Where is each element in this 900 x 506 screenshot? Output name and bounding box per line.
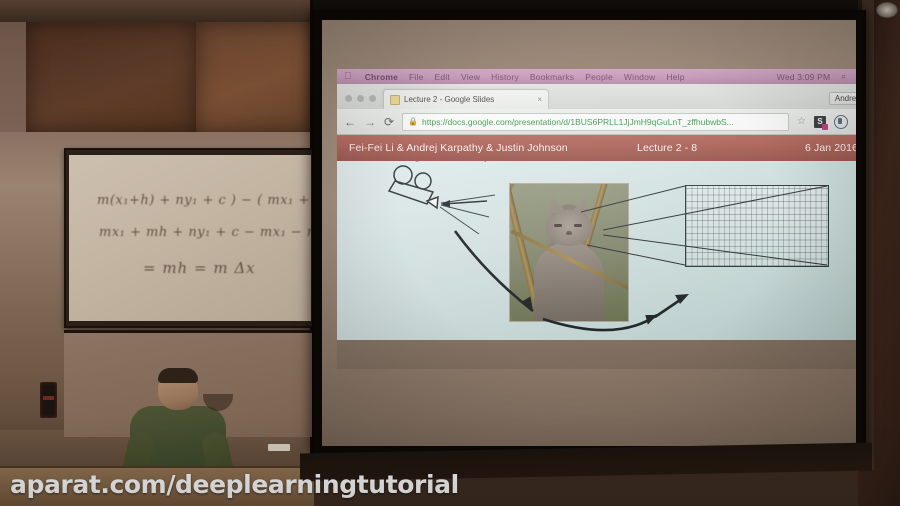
ceiling-light bbox=[876, 2, 898, 18]
chrome-toolbar: ← → ⟳ 🔒 https://docs.google.com/presenta… bbox=[337, 109, 856, 135]
spotlight-search-icon[interactable]: ⌕ bbox=[841, 71, 846, 82]
slide-lecture-number: Lecture 2 - 8 bbox=[637, 142, 697, 154]
menu-edit[interactable]: Edit bbox=[435, 72, 450, 82]
menu-history[interactable]: History bbox=[491, 72, 519, 82]
whiteboard: m(x₁+h) + ny₁ + c ) − ( mx₁ + ny₁ mx₁ + … bbox=[64, 148, 316, 328]
wall-panel-left bbox=[26, 22, 198, 134]
cat-eye-right bbox=[574, 224, 582, 227]
chrome-browser-window:  Chrome File Edit View History Bookmark… bbox=[337, 69, 856, 369]
slide-diagram bbox=[337, 135, 856, 340]
menu-view[interactable]: View bbox=[461, 72, 480, 82]
screen-pull-handle bbox=[268, 444, 290, 451]
profile-chip[interactable]: Andrej bbox=[829, 92, 856, 105]
ray-arrowhead bbox=[441, 200, 450, 208]
chrome-tab-strip: Lecture 2 - Google Slides × Andrej bbox=[337, 84, 856, 109]
lecturer-hair bbox=[158, 368, 198, 383]
slides-favicon-icon bbox=[390, 95, 400, 105]
back-button[interactable]: ← bbox=[344, 116, 356, 128]
whiteboard-equation-3: = mh = m Δx bbox=[143, 259, 256, 277]
camera-icon bbox=[389, 166, 438, 208]
wall-panel-right bbox=[196, 22, 314, 134]
maximize-window-button[interactable] bbox=[369, 95, 376, 102]
bookmark-star-icon[interactable]: ☆ bbox=[797, 116, 806, 127]
arrow-tail-right bbox=[655, 298, 683, 317]
camera-rays bbox=[440, 195, 495, 234]
macos-menu-bar:  Chrome File Edit View History Bookmark… bbox=[337, 69, 856, 84]
window-controls[interactable] bbox=[337, 95, 383, 109]
menu-bookmarks[interactable]: Bookmarks bbox=[530, 72, 574, 82]
slide-authors: Fei-Fei Li & Andrej Karpathy & Justin Jo… bbox=[349, 142, 568, 154]
close-window-button[interactable] bbox=[345, 95, 352, 102]
projection-screen:  Chrome File Edit View History Bookmark… bbox=[312, 10, 866, 456]
whiteboard-equation-1: m(x₁+h) + ny₁ + c ) − ( mx₁ + ny₁ bbox=[97, 193, 311, 208]
video-frame: m(x₁+h) + ny₁ + c ) − ( mx₁ + ny₁ mx₁ + … bbox=[0, 0, 900, 506]
wall-switch-panel bbox=[40, 382, 57, 418]
url-text: https://docs.google.com/presentation/d/1… bbox=[422, 117, 734, 127]
pixel-number-grid bbox=[685, 185, 829, 267]
browser-tab[interactable]: Lecture 2 - Google Slides × bbox=[383, 89, 549, 109]
apple-logo-icon[interactable]:  bbox=[344, 71, 352, 82]
ray-arrow bbox=[443, 201, 487, 204]
menu-file[interactable]: File bbox=[409, 72, 424, 82]
menubar-clock: Wed 3:09 PM bbox=[777, 72, 831, 82]
address-bar[interactable]: 🔒 https://docs.google.com/presentation/d… bbox=[402, 113, 789, 131]
cat-photo bbox=[509, 183, 629, 322]
close-tab-icon[interactable]: × bbox=[537, 95, 542, 104]
minimize-window-button[interactable] bbox=[357, 95, 364, 102]
arrow-head-right-2 bbox=[675, 294, 689, 304]
cat-face bbox=[546, 210, 592, 246]
cat-body bbox=[534, 242, 604, 322]
watermark: aparat.com/deeplearningtutorial bbox=[10, 470, 459, 499]
cat-nose bbox=[566, 231, 572, 235]
secure-lock-icon: 🔒 bbox=[408, 117, 418, 126]
cat-eye-left bbox=[554, 224, 562, 227]
menu-people[interactable]: People bbox=[585, 72, 613, 82]
reload-button[interactable]: ⟳ bbox=[384, 116, 394, 128]
whiteboard-surface: m(x₁+h) + ny₁ + c ) − ( mx₁ + ny₁ mx₁ + … bbox=[69, 155, 311, 321]
slide-footer: Fei-Fei Li & Andrej Karpathy & Justin Jo… bbox=[337, 135, 856, 161]
arrow-head-right bbox=[644, 311, 659, 325]
extension-icon-s[interactable]: S bbox=[814, 116, 826, 128]
slide-date: 6 Jan 2016 bbox=[805, 142, 856, 154]
tab-title: Lecture 2 - Google Slides bbox=[404, 95, 494, 104]
forward-button[interactable]: → bbox=[364, 116, 376, 128]
extension-icon-circle[interactable] bbox=[834, 115, 848, 129]
google-slides-canvas[interactable]: Challenges: Viewpoint Variation bbox=[337, 135, 856, 340]
menu-chrome[interactable]: Chrome bbox=[365, 72, 398, 82]
menu-window[interactable]: Window bbox=[624, 72, 655, 82]
whiteboard-equation-2: mx₁ + mh + ny₁ + c − mx₁ − ny₁ bbox=[99, 225, 311, 240]
projection-surface:  Chrome File Edit View History Bookmark… bbox=[322, 20, 856, 446]
ceiling-strip bbox=[0, 0, 330, 22]
menu-help[interactable]: Help bbox=[666, 72, 684, 82]
